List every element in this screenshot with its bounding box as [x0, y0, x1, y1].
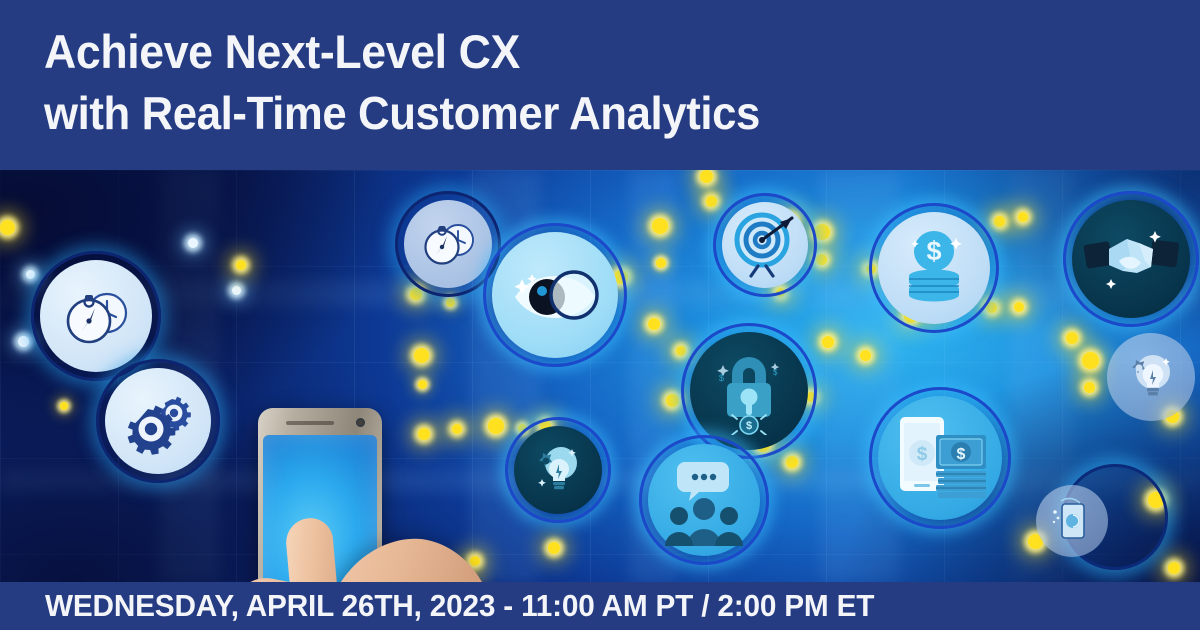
svg-text:$: $	[719, 373, 724, 383]
glow-dot	[648, 318, 660, 330]
glow-dot	[1014, 302, 1024, 312]
padlock-icon: $ $ $	[690, 332, 808, 450]
target-arrow-icon	[722, 202, 808, 288]
svg-text:$: $	[926, 236, 941, 266]
glow-dot	[414, 348, 429, 363]
glow-dot	[816, 254, 827, 265]
svg-text:$: $	[957, 446, 966, 463]
glow-dot	[860, 350, 871, 361]
stopwatch-clock-icon	[40, 260, 152, 372]
footer-bar: WEDNESDAY, APRIL 26TH, 2023 - 11:00 AM P…	[0, 582, 1200, 630]
stopwatch-clock-icon-2	[404, 200, 492, 288]
glow-dot	[470, 556, 480, 566]
glow-dot	[488, 418, 504, 434]
glow-dot	[656, 258, 666, 268]
handshake-icon	[1072, 200, 1190, 318]
glow-dot	[1084, 382, 1095, 393]
glow-dot	[1018, 212, 1028, 222]
glow-dot	[232, 286, 241, 295]
glow-dot	[994, 216, 1005, 227]
glow-dot	[60, 402, 68, 410]
phone-camera-icon	[356, 418, 365, 427]
svg-text:$: $	[773, 368, 778, 377]
glow-dot	[1066, 332, 1078, 344]
gears-icon	[105, 368, 211, 474]
mobile-device-icon	[1036, 485, 1108, 557]
glow-dot	[446, 298, 455, 307]
glow-dot	[700, 170, 713, 183]
glow-dot	[452, 424, 462, 434]
glow-dot	[786, 456, 798, 468]
event-datetime: WEDNESDAY, APRIL 26TH, 2023 - 11:00 AM P…	[45, 588, 874, 624]
glow-dot	[676, 346, 686, 356]
mobile-payment-icon: $ $	[878, 396, 1002, 520]
glow-dot	[666, 394, 679, 407]
glow-dot	[822, 336, 834, 348]
glow-dot	[1168, 562, 1180, 574]
phone-speaker	[286, 421, 334, 425]
glow-dot	[706, 196, 717, 207]
glow-dot	[410, 288, 422, 300]
glow-dot	[418, 380, 427, 389]
eye-magnifier-icon	[492, 232, 618, 358]
svg-text:$: $	[917, 444, 928, 465]
glow-dot	[418, 428, 430, 440]
glow-dot	[0, 220, 15, 235]
glow-dot	[1082, 352, 1099, 369]
webinar-promo-banner: $	[0, 0, 1200, 630]
glow-dot	[652, 218, 668, 234]
hero-artwork: $	[0, 170, 1200, 582]
glow-dot	[26, 270, 35, 279]
glow-dot	[548, 542, 560, 554]
page-title: Achieve Next-Level CX with Real-Time Cus…	[44, 28, 798, 136]
svg-text:$: $	[746, 420, 752, 432]
people-chat-icon	[648, 444, 760, 556]
glow-dot	[188, 238, 198, 248]
title-line-1: Achieve Next-Level CX	[44, 28, 760, 75]
lightbulb-gear-icon	[1107, 333, 1195, 421]
lightbulb-gear-icon-2	[514, 426, 602, 514]
title-line-2: with Real-Time Customer Analytics	[44, 90, 760, 136]
glow-dot	[236, 260, 246, 270]
glow-dot	[18, 336, 29, 347]
coin-stack-icon: $	[878, 212, 990, 324]
